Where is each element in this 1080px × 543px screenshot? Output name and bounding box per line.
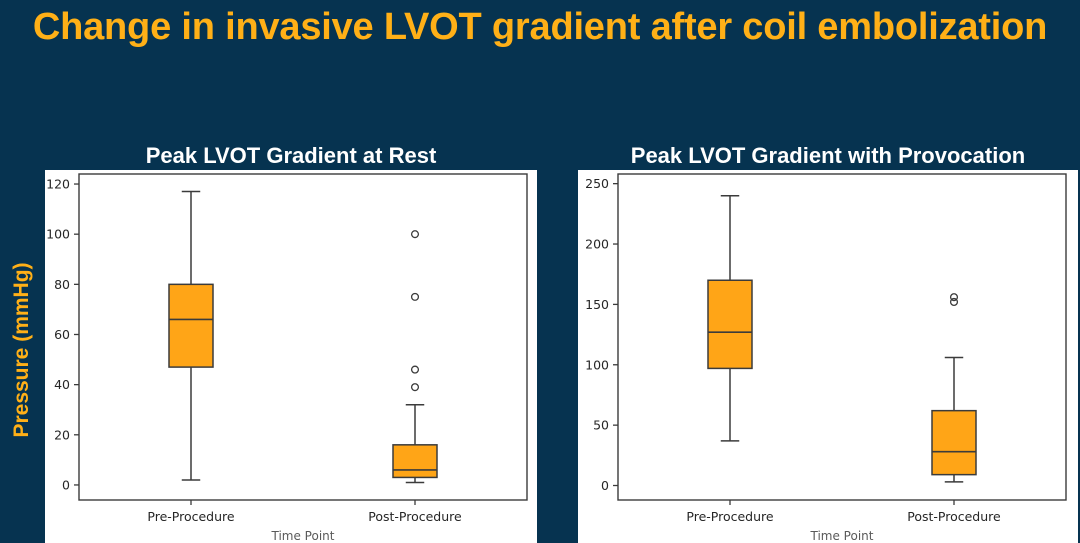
y-tick-label-0: 0 <box>62 477 70 492</box>
box-pre-procedure <box>708 280 752 368</box>
box-post-procedure <box>932 411 976 475</box>
y-tick-label-1: 50 <box>593 418 609 433</box>
chart-title-provocation: Peak LVOT Gradient with Provocation <box>578 143 1078 169</box>
x-tick-label-1: Post-Procedure <box>907 509 1001 524</box>
y-tick-label-4: 80 <box>54 277 70 292</box>
x-tick-label-0: Pre-Procedure <box>686 509 773 524</box>
y-axis-title-text: Pressure (mmHg) <box>10 262 34 437</box>
y-tick-label-5: 250 <box>585 176 609 191</box>
chart-title-rest: Peak LVOT Gradient at Rest <box>45 143 537 169</box>
boxplot-provocation: 050100150200250Pre-ProcedurePost-Procedu… <box>578 170 1078 543</box>
y-tick-label-5: 100 <box>46 227 70 242</box>
page-title: Change in invasive LVOT gradient after c… <box>0 4 1080 51</box>
y-tick-label-4: 200 <box>585 237 609 252</box>
x-tick-label-0: Pre-Procedure <box>147 509 234 524</box>
box-pre-procedure <box>169 284 213 367</box>
chart-panel-rest: 020406080100120Pre-ProcedurePost-Procedu… <box>45 170 537 543</box>
chart-panel-provocation: 050100150200250Pre-ProcedurePost-Procedu… <box>578 170 1078 543</box>
y-tick-label-3: 60 <box>54 327 70 342</box>
boxplot-rest: 020406080100120Pre-ProcedurePost-Procedu… <box>45 170 537 543</box>
slide-root: Change in invasive LVOT gradient after c… <box>0 0 1080 543</box>
y-axis-title: Pressure (mmHg) <box>2 205 42 495</box>
y-tick-label-3: 150 <box>585 297 609 312</box>
x-axis-title: Time Point <box>271 529 335 543</box>
y-tick-label-2: 100 <box>585 357 609 372</box>
y-tick-label-6: 120 <box>46 177 70 192</box>
plot-frame <box>79 174 527 500</box>
y-tick-label-0: 0 <box>601 478 609 493</box>
x-axis-title: Time Point <box>810 529 874 543</box>
box-post-procedure <box>393 445 437 478</box>
y-tick-label-2: 40 <box>54 377 70 392</box>
x-tick-label-1: Post-Procedure <box>368 509 462 524</box>
plot-frame <box>618 174 1066 500</box>
y-tick-label-1: 20 <box>54 427 70 442</box>
